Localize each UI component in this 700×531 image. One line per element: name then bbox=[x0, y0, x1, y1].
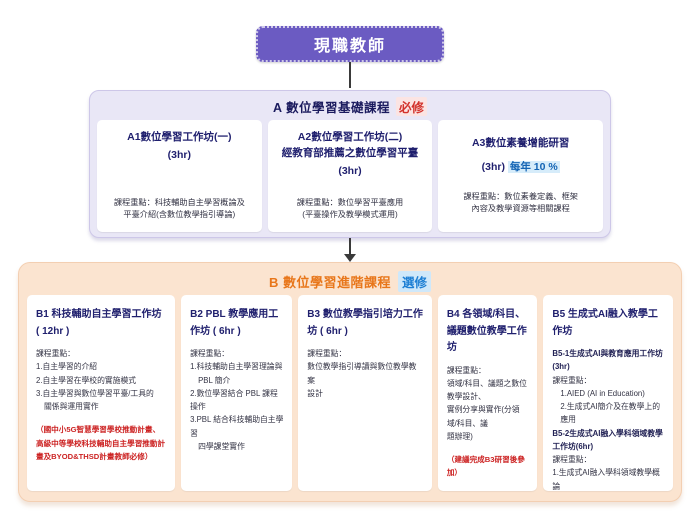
course-a3-annual-highlight: 每年 10 % bbox=[508, 161, 560, 173]
section-a-course-list: A1數位學習工作坊(一) (3hr) 課程重點：科技輔助自主學習概論及 平臺介紹… bbox=[97, 120, 603, 232]
course-card-b5: B5 生成式AI融入教學工作坊 B5-1生成式AI與教育應用工作坊 (3hr) … bbox=[543, 295, 673, 491]
top-node-wrapper: 現職教師 bbox=[0, 26, 700, 62]
course-b4-note: （建議完成B3研習後參加） bbox=[447, 453, 530, 480]
course-a2-desc: 課程重點：數位學習平臺應用 (平臺操作及教學模式運用) bbox=[297, 197, 403, 222]
course-b2-title: B2 PBL 教學應用工作坊 ( 6hr ) bbox=[190, 307, 284, 340]
section-b-course-list: B1 科技輔助自主學習工作坊 ( 12hr ) 課程重點： 1.自主學習的介紹 … bbox=[27, 295, 673, 491]
course-card-b4: B4 各領域/科目、議題數位教學工作坊 課程重點： 領域/科目、議題之數位教學設… bbox=[438, 295, 538, 491]
course-b5-sub-block-1: B5-1生成式AI與教育應用工作坊 (3hr) 課程重點： 1.AIED (AI… bbox=[552, 347, 665, 427]
node-current-teacher-label: 現職教師 bbox=[314, 32, 386, 56]
section-a-container: A 數位學習基礎課程 必修 A1數位學習工作坊(一) (3hr) 課程重點：科技… bbox=[89, 90, 611, 238]
course-b2-item-3: 2.數位學習結合 PBL 課程操作 bbox=[190, 387, 284, 414]
course-b5-2-item-1: 1.生成式AI融入學科領域教學概論 bbox=[552, 466, 665, 491]
course-card-b2: B2 PBL 教學應用工作坊 ( 6hr ) 課程重點： 1.科技輔助自主學習理… bbox=[181, 295, 292, 491]
course-a3-hours-row: (3hr) 每年 10 % bbox=[482, 159, 560, 174]
course-b4-item-3: 題辦理) bbox=[447, 430, 530, 443]
course-b5-1-heading: B5-1生成式AI與教育應用工作坊 (3hr) bbox=[552, 347, 665, 374]
course-b1-focus-label: 課程重點： bbox=[36, 347, 167, 360]
course-b3-title: B3 數位教學指引培力工作坊 ( 6hr ) bbox=[307, 307, 424, 340]
course-a1-desc: 課程重點：科技輔助自主學習概論及 平臺介紹(含數位教學指引導論) bbox=[114, 197, 245, 222]
section-a-required-badge: 必修 bbox=[396, 97, 427, 116]
course-a1-desc-line-1: 課程重點：科技輔助自主學習概論及 bbox=[114, 197, 245, 210]
course-b5-1-item-2: 2.生成式AI簡介及在教學上的應用 bbox=[552, 400, 665, 427]
course-b1-item-2: 2.自主學習在學校的實施模式 bbox=[36, 374, 167, 387]
course-card-a3: A3數位素養增能研習 (3hr) 每年 10 % 課程重點：數位素養定義、框架 … bbox=[438, 120, 603, 232]
course-b5-1-item-1: 1.AIED (AI in Education) bbox=[552, 387, 665, 400]
section-b-elective-badge: 選修 bbox=[398, 271, 431, 292]
course-b2-item-5: 四學課堂實作 bbox=[190, 440, 284, 453]
course-b1-item-1: 1.自主學習的介紹 bbox=[36, 360, 167, 373]
course-a2-title-line-1: A2數位學習工作坊(二) bbox=[298, 130, 402, 146]
course-a3-title: A3數位素養增能研習 bbox=[472, 136, 569, 152]
section-a-header: A 數位學習基礎課程 必修 bbox=[97, 96, 603, 117]
node-current-teacher: 現職教師 bbox=[256, 26, 444, 62]
course-b2-item-1: 1.科技輔助自主學習理論與 bbox=[190, 360, 284, 373]
course-b3-item-2: 設計 bbox=[307, 387, 424, 400]
connector-top-to-section-a bbox=[349, 62, 351, 88]
flowchart-root: 現職教師 A 數位學習基礎課程 必修 A1數位學習工作坊(一) (3hr) 課程… bbox=[0, 0, 700, 531]
course-b3-focus-label: 課程重點： bbox=[307, 347, 424, 360]
course-b5-2-focus-label: 課程重點： bbox=[552, 453, 665, 466]
course-a3-desc-line-1: 課程重點：數位素養定義、框架 bbox=[463, 191, 578, 204]
course-card-a1: A1數位學習工作坊(一) (3hr) 課程重點：科技輔助自主學習概論及 平臺介紹… bbox=[97, 120, 262, 232]
course-a2-title-line-2: 經教育部推薦之數位學習平臺 bbox=[282, 146, 419, 162]
course-b4-item-1: 領域/科目、議題之數位教學設計、 bbox=[447, 377, 530, 404]
section-b-title: B 數位學習進階課程 bbox=[269, 272, 391, 291]
course-b1-title: B1 科技輔助自主學習工作坊 ( 12hr ) bbox=[36, 307, 167, 340]
course-a1-desc-line-2: 平臺介紹(含數位教學指引導論) bbox=[114, 209, 245, 222]
course-b2-item-4: 3.PBL 結合科技輔助自主學習 bbox=[190, 413, 284, 440]
section-a-title: A 數位學習基礎課程 bbox=[273, 97, 390, 116]
course-b4-title: B4 各領域/科目、議題數位教學工作坊 bbox=[447, 307, 530, 357]
course-a3-desc: 課程重點：數位素養定義、框架 內容及教學資源等相關課程 bbox=[463, 191, 578, 216]
course-b1-item-3: 3.自主學習與數位學習平臺/工具的 bbox=[36, 387, 167, 400]
course-a3-desc-line-2: 內容及教學資源等相關課程 bbox=[463, 203, 578, 216]
course-b2-focus-label: 課程重點： bbox=[190, 347, 284, 360]
course-card-b3: B3 數位教學指引培力工作坊 ( 6hr ) 課程重點： 數位教學指引導讀與數位… bbox=[298, 295, 432, 491]
course-a1-hours: (3hr) bbox=[168, 149, 191, 161]
section-b-header: B 數位學習進階課程 選修 bbox=[27, 269, 673, 293]
course-a3-hours: (3hr) bbox=[482, 161, 505, 173]
course-b4-focus-label: 課程重點： bbox=[447, 364, 530, 377]
course-b5-1-focus-label: 課程重點： bbox=[552, 374, 665, 387]
section-b-container: B 數位學習進階課程 選修 B1 科技輔助自主學習工作坊 ( 12hr ) 課程… bbox=[18, 262, 682, 502]
course-a2-desc-line-1: 課程重點：數位學習平臺應用 bbox=[297, 197, 403, 210]
course-b5-2-heading: B5-2生成式AI融入學科領域教學工作坊(6hr) bbox=[552, 427, 665, 454]
course-b4-item-2: 實例分享與實作(分領域/科目、議 bbox=[447, 403, 530, 430]
course-b5-title: B5 生成式AI融入教學工作坊 bbox=[552, 307, 665, 340]
course-b2-item-2: PBL 簡介 bbox=[190, 374, 284, 387]
course-b1-note: （國中小5G智慧學習學校推動計畫、高級中等學校科技輔助自主學習推動計畫及BYOD… bbox=[36, 423, 167, 463]
course-b3-item-1: 數位教學指引導讀與數位教學教案 bbox=[307, 360, 424, 387]
course-b5-sub-block-2: B5-2生成式AI融入學科領域教學工作坊(6hr) 課程重點： 1.生成式AI融… bbox=[552, 427, 665, 492]
course-card-b1: B1 科技輔助自主學習工作坊 ( 12hr ) 課程重點： 1.自主學習的介紹 … bbox=[27, 295, 175, 491]
course-a2-desc-line-2: (平臺操作及教學模式運用) bbox=[297, 209, 403, 222]
arrow-head-icon bbox=[344, 254, 356, 262]
course-b1-item-4: 關係與運用實作 bbox=[36, 400, 167, 413]
course-a1-title: A1數位學習工作坊(一) bbox=[127, 130, 231, 146]
course-card-a2: A2數位學習工作坊(二) 經教育部推薦之數位學習平臺 (3hr) 課程重點：數位… bbox=[268, 120, 433, 232]
course-a2-hours: (3hr) bbox=[338, 165, 361, 177]
